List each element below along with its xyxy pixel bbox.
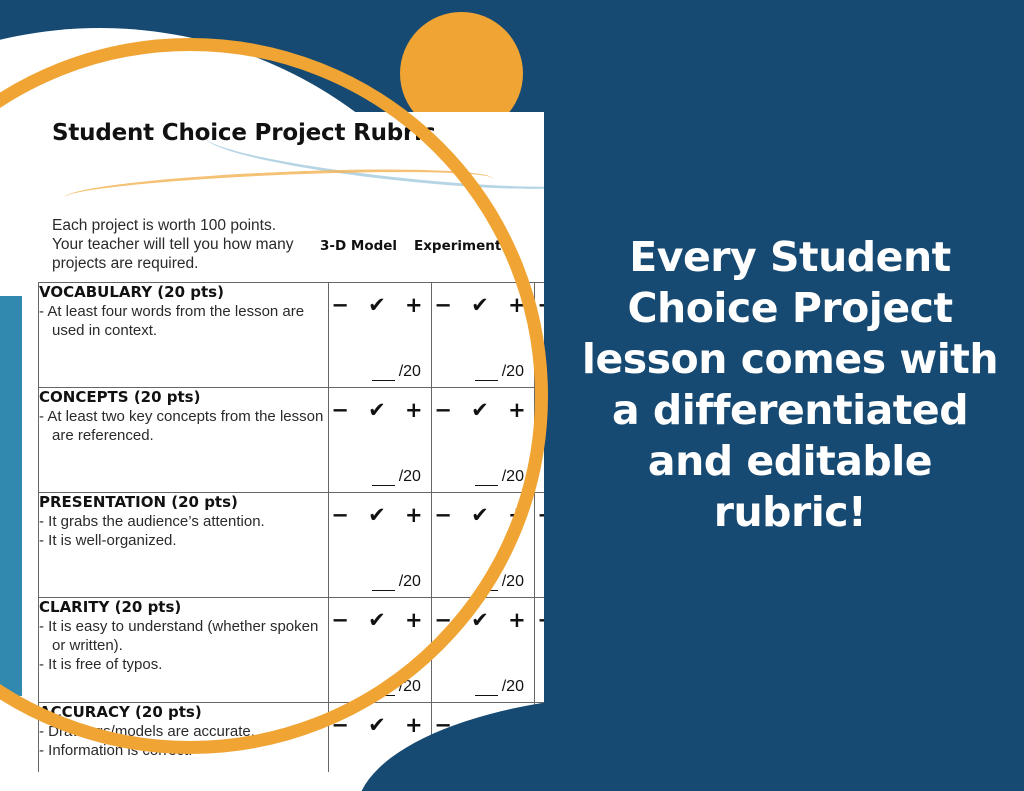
rating-marks[interactable]: − ✔ + bbox=[432, 398, 534, 422]
score-label: /20 bbox=[399, 573, 421, 590]
rubric-table: VOCABULARY (20 pts) - At least four word… bbox=[38, 282, 544, 772]
column-header-3d-model: 3-D Model bbox=[320, 238, 397, 254]
criterion-bullet: - At least four words from the lesson ar… bbox=[39, 302, 328, 340]
score-cell-experiment[interactable]: − ✔ + /20 bbox=[431, 388, 534, 493]
doc-swoosh-orange-icon bbox=[63, 163, 494, 215]
criterion-cell-presentation: PRESENTATION (20 pts) - It grabs the aud… bbox=[39, 493, 329, 598]
table-row: CONCEPTS (20 pts) - At least two key con… bbox=[39, 388, 545, 493]
rating-marks[interactable]: − ✔ + bbox=[535, 398, 544, 422]
score-cell-third[interactable]: − ✔ + /20 bbox=[534, 493, 544, 598]
table-row: CLARITY (20 pts) - It is easy to underst… bbox=[39, 598, 545, 703]
criterion-bullet: - Information is correct. bbox=[39, 741, 328, 760]
score-blank[interactable]: /20 bbox=[372, 678, 421, 696]
criterion-name: VOCABULARY (20 pts) bbox=[39, 283, 328, 302]
table-row: PRESENTATION (20 pts) - It grabs the aud… bbox=[39, 493, 545, 598]
teal-edge-strip bbox=[0, 296, 22, 696]
score-label: /20 bbox=[502, 363, 524, 380]
score-cell-experiment[interactable]: − ✔ + /20 bbox=[431, 598, 534, 703]
score-label: /20 bbox=[399, 678, 421, 695]
score-blank[interactable]: /20 bbox=[475, 678, 524, 696]
score-cell-third[interactable]: − ✔ + /20 bbox=[534, 598, 544, 703]
score-blank[interactable]: /20 bbox=[475, 363, 524, 381]
score-blank[interactable]: /20 bbox=[475, 573, 524, 591]
score-label: /20 bbox=[502, 678, 524, 695]
score-label: /20 bbox=[502, 573, 524, 590]
criterion-bullets: - It grabs the audience’s attention. - I… bbox=[39, 512, 328, 550]
rubric-intro-text: Each project is worth 100 points. Your t… bbox=[52, 216, 302, 273]
score-blank[interactable]: /20 bbox=[475, 468, 524, 486]
promo-graphic: Student Choice Project Rubric Each proje… bbox=[0, 0, 1024, 791]
criterion-bullet: - It is easy to understand (whether spok… bbox=[39, 617, 328, 655]
score-label: /20 bbox=[502, 468, 524, 485]
rating-marks[interactable]: − ✔ + bbox=[329, 398, 431, 422]
rubric-document: Student Choice Project Rubric Each proje… bbox=[24, 112, 544, 772]
rubric-title: Student Choice Project Rubric bbox=[52, 120, 472, 147]
rating-marks[interactable]: − ✔ + bbox=[432, 503, 534, 527]
criterion-cell-vocabulary: VOCABULARY (20 pts) - At least four word… bbox=[39, 283, 329, 388]
criterion-bullet: - Drawings/models are accurate. bbox=[39, 722, 328, 741]
criterion-cell-accuracy: ACCURACY (20 pts) - Drawings/models are … bbox=[39, 703, 329, 773]
score-blank[interactable]: /20 bbox=[372, 468, 421, 486]
criterion-name: ACCURACY (20 pts) bbox=[39, 703, 328, 722]
rating-marks[interactable]: − ✔ + bbox=[535, 293, 544, 317]
criterion-name: CLARITY (20 pts) bbox=[39, 598, 328, 617]
score-cell-3d-model[interactable]: − ✔ + /20 bbox=[328, 388, 431, 493]
rating-marks[interactable]: − ✔ + bbox=[329, 293, 431, 317]
criterion-bullet: - It grabs the audience’s attention. bbox=[39, 512, 328, 531]
criterion-bullets: - Drawings/models are accurate. - Inform… bbox=[39, 722, 328, 760]
score-blank[interactable]: /20 bbox=[372, 363, 421, 381]
score-cell-3d-model[interactable]: − ✔ + /20 bbox=[328, 283, 431, 388]
rubric-table-body: VOCABULARY (20 pts) - At least four word… bbox=[39, 283, 545, 773]
rating-marks[interactable]: − ✔ + bbox=[535, 608, 544, 632]
column-header-experiment: Experiment bbox=[414, 238, 501, 254]
rating-marks[interactable]: − ✔ + bbox=[329, 503, 431, 527]
rating-marks[interactable]: − ✔ + bbox=[535, 503, 544, 527]
rating-marks[interactable]: − ✔ + bbox=[432, 608, 534, 632]
score-label: /20 bbox=[399, 468, 421, 485]
criterion-cell-clarity: CLARITY (20 pts) - It is easy to underst… bbox=[39, 598, 329, 703]
rating-marks[interactable]: − ✔ + bbox=[329, 713, 431, 737]
criterion-bullet: - It is well-organized. bbox=[39, 531, 328, 550]
score-cell-experiment[interactable]: − ✔ + /20 bbox=[431, 493, 534, 598]
score-cell-third[interactable]: − ✔ + /20 bbox=[534, 388, 544, 493]
criterion-bullet: - At least two key concepts from the les… bbox=[39, 407, 328, 445]
criterion-name: CONCEPTS (20 pts) bbox=[39, 388, 328, 407]
score-label: /20 bbox=[399, 363, 421, 380]
criterion-bullets: - It is easy to understand (whether spok… bbox=[39, 617, 328, 674]
rating-marks[interactable]: − ✔ + bbox=[432, 293, 534, 317]
score-cell-third[interactable]: − ✔ + /20 bbox=[534, 283, 544, 388]
criterion-cell-concepts: CONCEPTS (20 pts) - At least two key con… bbox=[39, 388, 329, 493]
score-cell-experiment[interactable]: − ✔ + /20 bbox=[431, 283, 534, 388]
table-row: VOCABULARY (20 pts) - At least four word… bbox=[39, 283, 545, 388]
score-cell-3d-model[interactable]: − ✔ + /20 bbox=[328, 493, 431, 598]
score-blank[interactable]: /20 bbox=[372, 573, 421, 591]
score-cell-3d-model[interactable]: − ✔ + /20 bbox=[328, 598, 431, 703]
criterion-bullets: - At least two key concepts from the les… bbox=[39, 407, 328, 445]
headline-text: Every Student Choice Project lesson come… bbox=[580, 232, 1000, 538]
criterion-name: PRESENTATION (20 pts) bbox=[39, 493, 328, 512]
criterion-bullet: - It is free of typos. bbox=[39, 655, 328, 674]
rating-marks[interactable]: − ✔ + bbox=[329, 608, 431, 632]
criterion-bullets: - At least four words from the lesson ar… bbox=[39, 302, 328, 340]
